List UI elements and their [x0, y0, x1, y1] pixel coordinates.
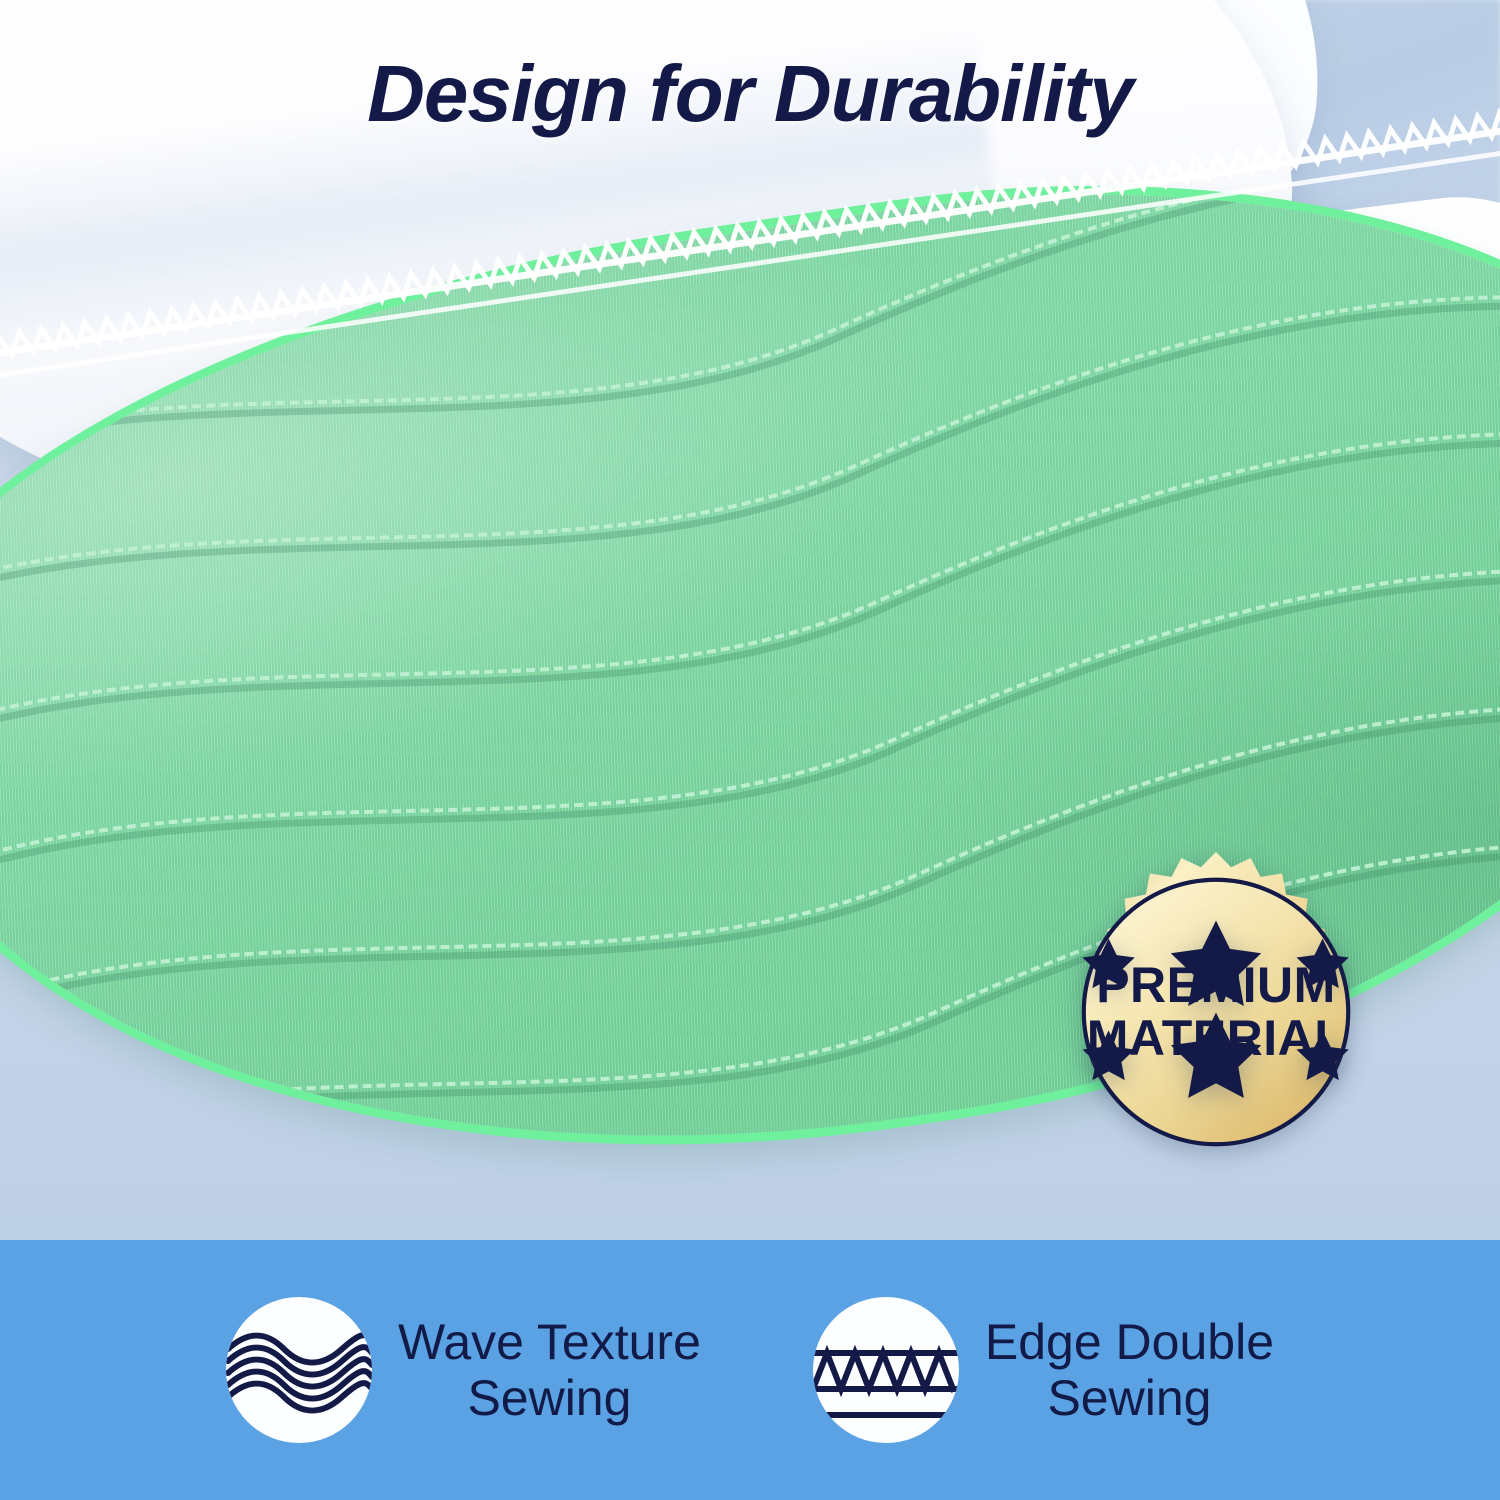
- badge-line-1: PREMIUM: [1042, 959, 1390, 1012]
- feature-edge-double-sewing: Edge Double Sewing: [813, 1297, 1274, 1443]
- wave-lines-icon: [226, 1297, 372, 1443]
- feature-bar: Wave Texture Sewing Edge Double Sewing: [0, 1240, 1500, 1500]
- badge-label: PREMIUM MATERIAL: [1042, 959, 1390, 1065]
- wave-lines-glyph: [226, 1297, 372, 1443]
- product-feature-image: Design for Durability: [0, 0, 1500, 1500]
- badge-line-2: MATERIAL: [1042, 1012, 1390, 1065]
- feature-wave-texture-sewing: Wave Texture Sewing: [226, 1297, 701, 1443]
- zigzag-stitch-icon: [813, 1297, 959, 1443]
- page-title: Design for Durability: [0, 48, 1500, 140]
- feature-list: Wave Texture Sewing Edge Double Sewing: [0, 1297, 1500, 1443]
- feature-label-edge: Edge Double Sewing: [985, 1314, 1274, 1426]
- product-photo: Design for Durability: [0, 0, 1500, 1240]
- zigzag-stitch-glyph: [813, 1297, 959, 1443]
- premium-material-badge: PREMIUM MATERIAL: [1042, 838, 1390, 1186]
- feature-label-wave: Wave Texture Sewing: [398, 1314, 701, 1426]
